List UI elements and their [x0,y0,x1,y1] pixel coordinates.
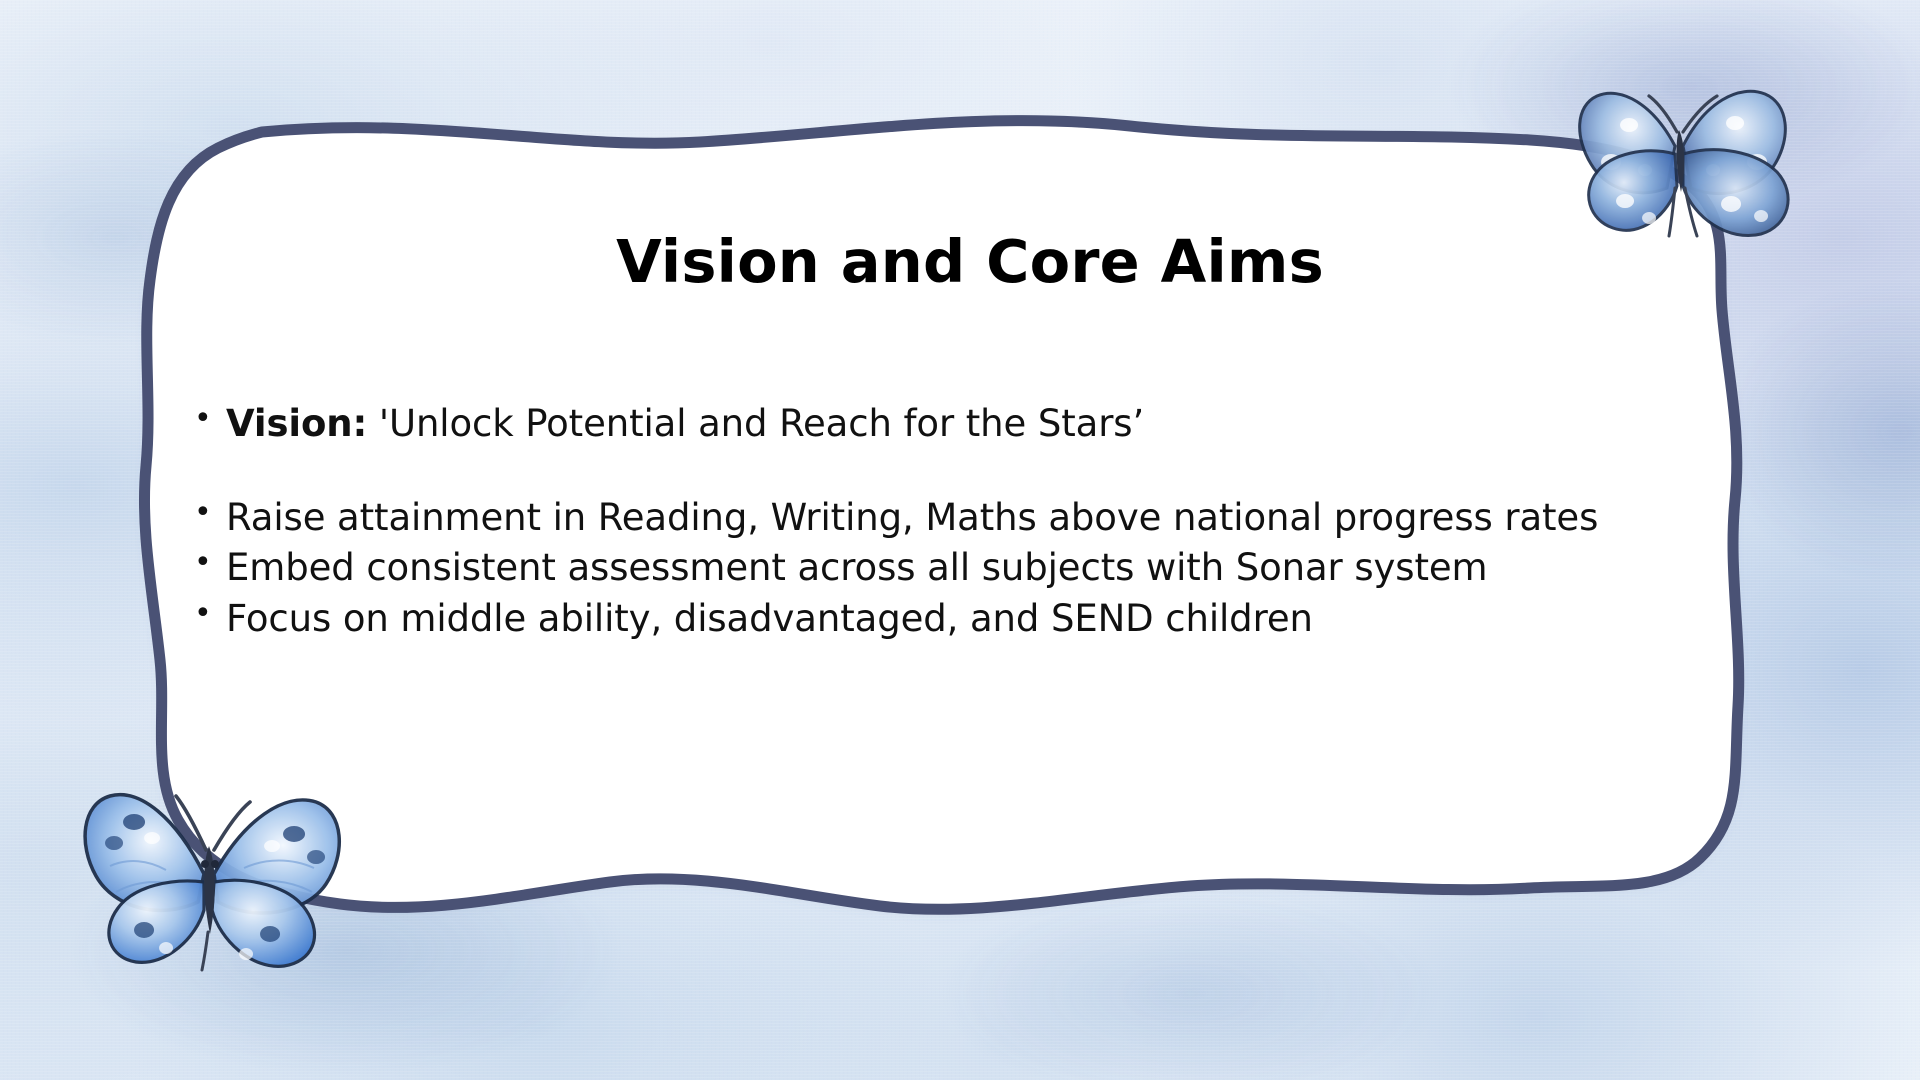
page-title: Vision and Core Aims [140,230,1800,295]
bullet-text: Embed consistent assessment across all s… [226,546,1488,589]
list-item: Vision: 'Unlock Potential and Reach for … [188,402,1788,446]
list-item: Embed consistent assessment across all s… [188,546,1788,590]
bullet-text: 'Unlock Potential and Reach for the Star… [367,402,1144,445]
slide-content: Vision and Core Aims Vision: 'Unlock Pot… [140,150,1800,950]
bullet-text: Raise attainment in Reading, Writing, Ma… [226,496,1598,539]
list-item: Raise attainment in Reading, Writing, Ma… [188,496,1788,540]
bullet-text: Focus on middle ability, disadvantaged, … [226,597,1313,640]
bullet-lead-label: Vision: [226,402,367,445]
presentation-slide: Vision and Core Aims Vision: 'Unlock Pot… [0,0,1920,1080]
bullet-list: Vision: 'Unlock Potential and Reach for … [188,402,1788,648]
list-item: Focus on middle ability, disadvantaged, … [188,597,1788,641]
